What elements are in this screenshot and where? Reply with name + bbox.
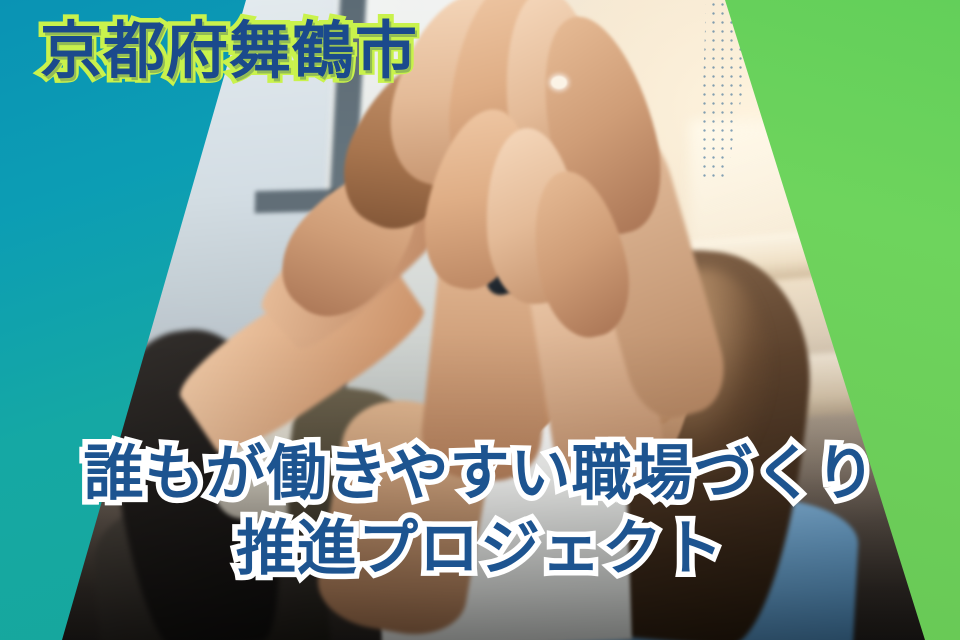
headline-line-2: 推進プロジェクト	[0, 515, 960, 582]
headline-line-1: 誰もが働きやすい職場づくり	[0, 440, 960, 507]
municipality-title: 京都府舞鶴市	[40, 18, 418, 86]
finger-ring	[551, 76, 567, 89]
hero-banner: 京都府舞鶴市 誰もが働きやすい職場づくり 推進プロジェクト	[0, 0, 960, 640]
project-headline: 誰もが働きやすい職場づくり 推進プロジェクト	[0, 440, 960, 582]
